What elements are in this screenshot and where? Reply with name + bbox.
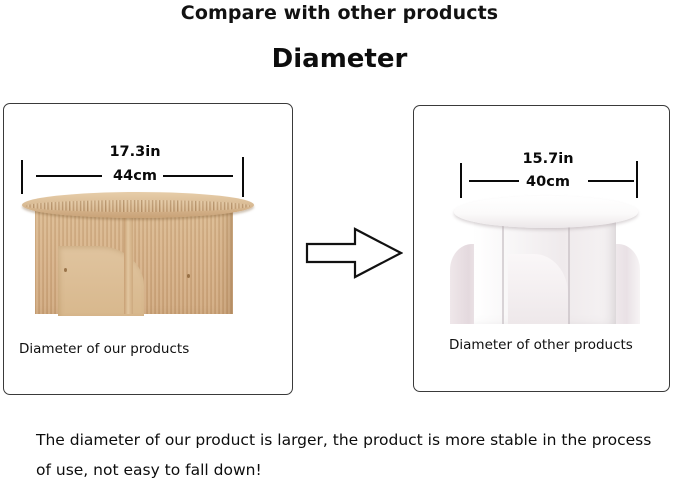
wooden-table-divider: [124, 208, 133, 314]
page-title-diameter: Diameter: [0, 42, 679, 76]
dimension-label-cm-others: 40cm: [508, 174, 588, 190]
wooden-table-top-edge: [26, 200, 250, 212]
wooden-table-image: [22, 186, 254, 316]
dimension-label-inches-ours: 17.3in: [95, 144, 175, 160]
panel-caption-others: Diameter of other products: [449, 337, 633, 353]
dimension-line-segment: [588, 180, 634, 182]
dimension-label-cm-ours: 44cm: [95, 168, 175, 184]
white-table-seam: [502, 222, 504, 324]
wooden-table-knot: [64, 268, 67, 272]
dimension-line-segment: [36, 175, 102, 177]
wooden-table-knot: [187, 274, 190, 278]
white-table-top: [454, 196, 638, 228]
dimension-tick-left: [21, 160, 23, 194]
dimension-tick-right: [636, 161, 638, 198]
white-table-image: [448, 196, 644, 326]
white-table-seam: [568, 222, 570, 324]
panel-caption-ours: Diameter of our products: [19, 341, 189, 357]
dimension-label-inches-others: 15.7in: [508, 151, 588, 167]
page-title-compare: Compare with other products: [0, 0, 679, 26]
dimension-tick-right: [242, 157, 244, 197]
dimension-tick-left: [460, 163, 462, 198]
arrow-right-icon: [305, 225, 403, 281]
footer-description: The diameter of our product is larger, t…: [36, 425, 652, 485]
